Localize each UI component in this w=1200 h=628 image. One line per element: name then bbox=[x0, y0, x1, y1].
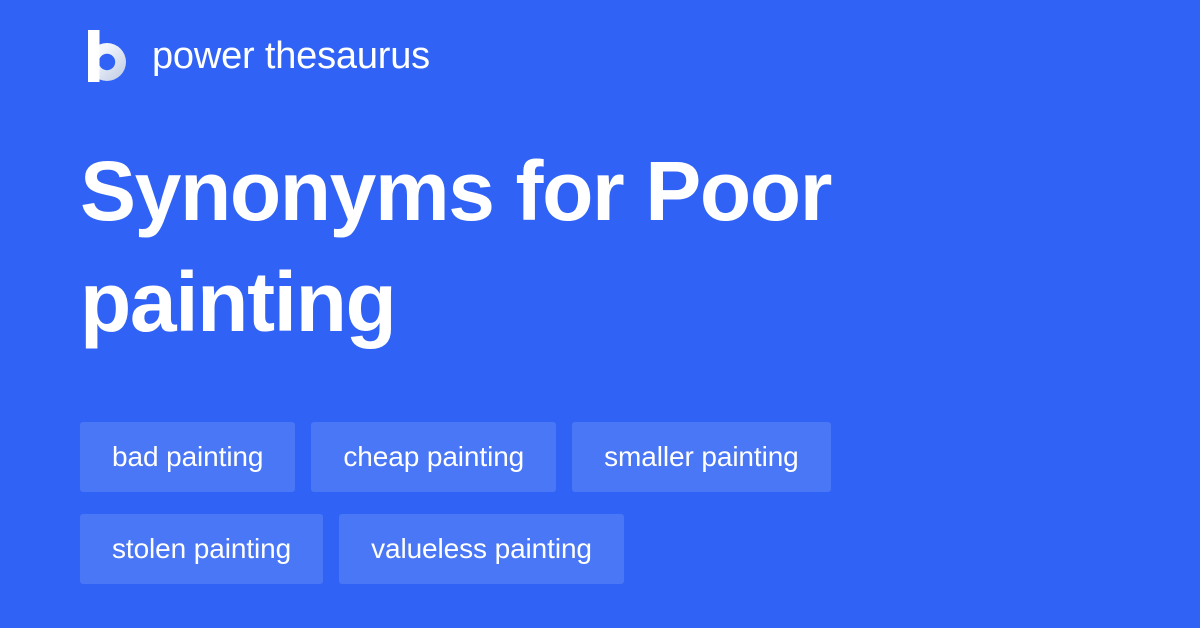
synonym-chip[interactable]: smaller painting bbox=[572, 422, 831, 492]
synonym-chip-list: bad painting cheap painting smaller pain… bbox=[80, 422, 1080, 584]
synonym-chip[interactable]: bad painting bbox=[80, 422, 295, 492]
synonym-chip[interactable]: valueless painting bbox=[339, 514, 624, 584]
synonym-chip[interactable]: stolen painting bbox=[80, 514, 323, 584]
page-title: Synonyms for Poor painting bbox=[80, 136, 980, 358]
power-thesaurus-b-logo-icon bbox=[80, 30, 126, 82]
brand-name: power thesaurus bbox=[152, 37, 430, 75]
synonym-chip[interactable]: cheap painting bbox=[311, 422, 556, 492]
brand-header[interactable]: power thesaurus bbox=[80, 28, 430, 84]
share-card: power thesaurus Synonyms for Poor painti… bbox=[0, 0, 1200, 628]
